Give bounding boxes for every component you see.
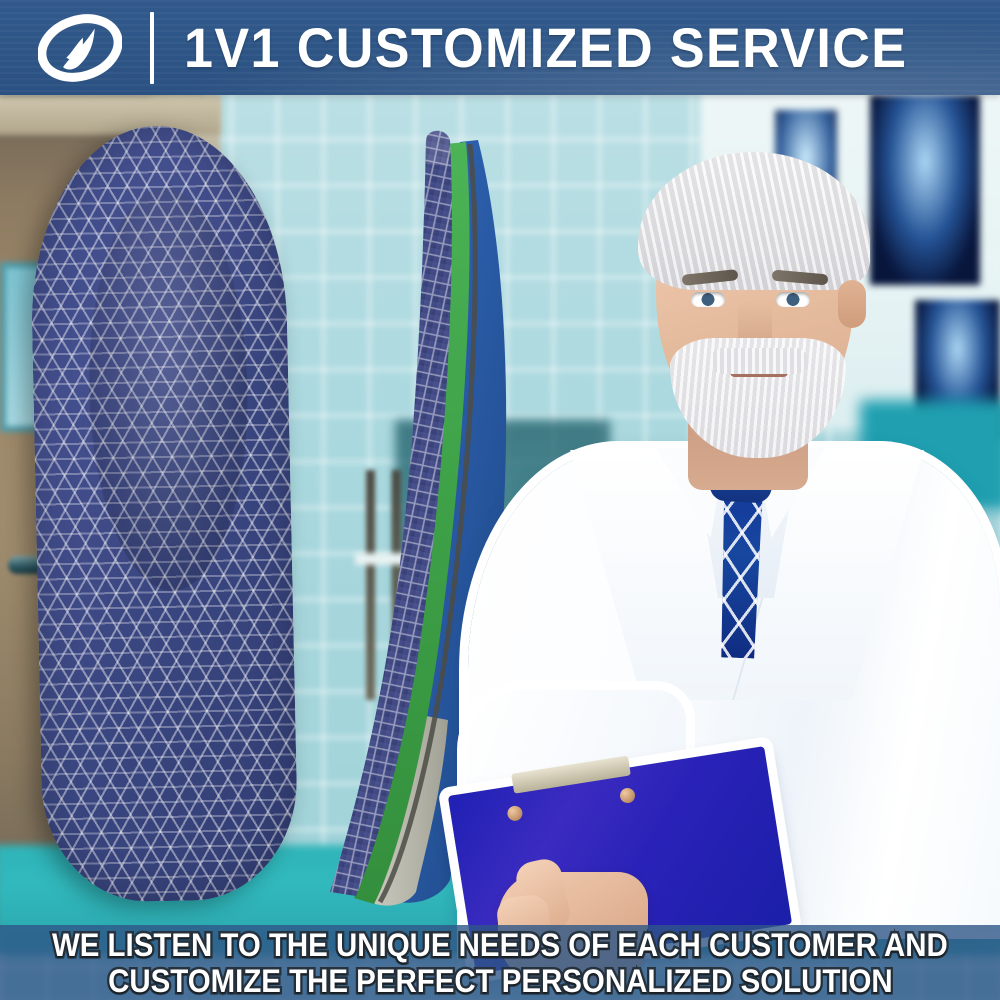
clipboard-rivet-left	[506, 805, 523, 822]
doctor-figure	[438, 130, 1000, 930]
eye-right	[776, 292, 810, 307]
eye-left	[691, 292, 725, 307]
page-title: 1V1 CUSTOMIZED SERVICE	[184, 15, 907, 80]
hair	[638, 152, 870, 290]
door-header-trim	[0, 95, 220, 135]
feather-swoosh-logo	[38, 9, 122, 87]
header-bar: 1V1 CUSTOMIZED SERVICE	[0, 0, 1000, 95]
caption-band: WE LISTEN TO THE UNIQUE NEEDS OF EACH CU…	[0, 925, 1000, 1000]
insole-top-view	[28, 123, 299, 903]
header-divider	[150, 12, 154, 84]
promo-banner: 1V1 CUSTOMIZED SERVICE WE LISTEN TO THE …	[0, 0, 1000, 1000]
caption-line-2: CUSTOMIZE THE PERFECT PERSONALIZED SOLUT…	[108, 963, 893, 999]
moustache	[710, 348, 808, 374]
caption-line-1: WE LISTEN TO THE UNIQUE NEEDS OF EACH CU…	[52, 927, 948, 963]
logo-svg	[38, 9, 122, 87]
ear	[838, 280, 866, 328]
clipboard-rivet-right	[619, 787, 636, 804]
